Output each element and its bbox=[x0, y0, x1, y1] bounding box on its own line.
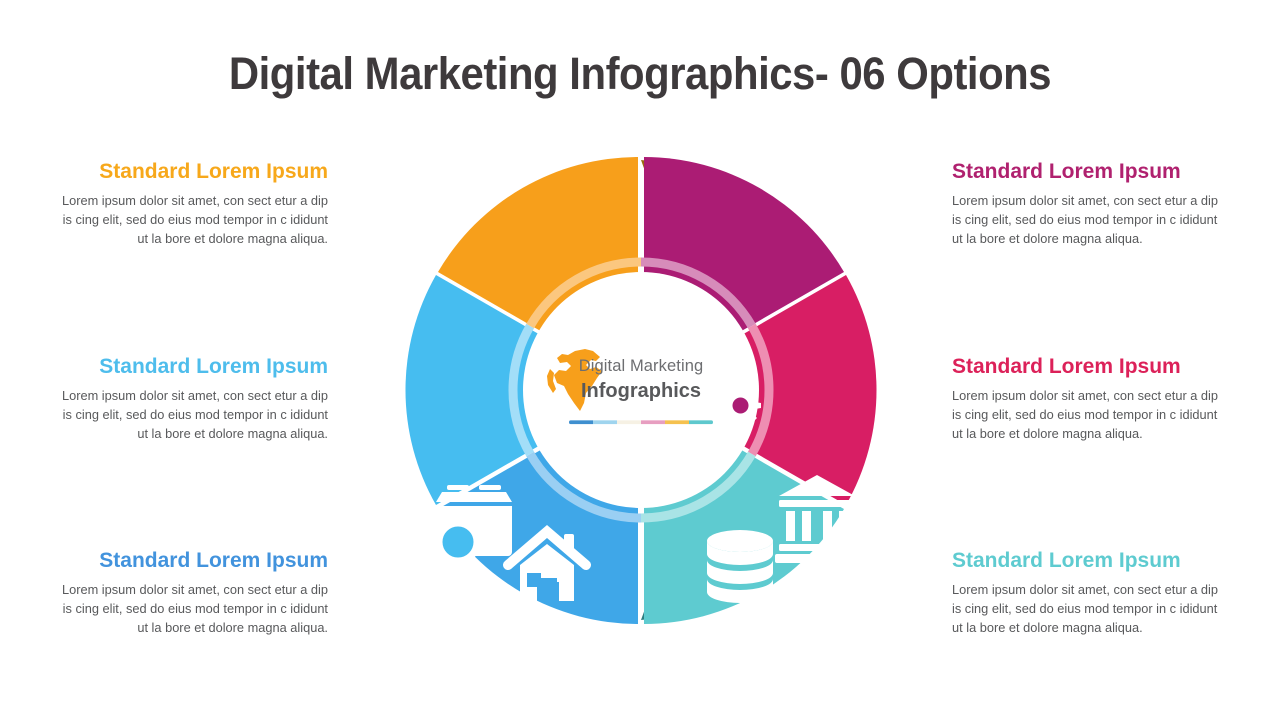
option-heading-engineer: Standard Lorem Ipsum bbox=[952, 160, 1224, 183]
option-body-engineer: Lorem ipsum dolor sit amet, con sect etu… bbox=[952, 192, 1224, 249]
option-text-globe: Standard Lorem Ipsum Lorem ipsum dolor s… bbox=[56, 160, 328, 249]
wheel-svg bbox=[391, 140, 891, 640]
infographic-wheel: Digital Marketing Infographics bbox=[391, 140, 891, 640]
option-text-engineer: Standard Lorem Ipsum Lorem ipsum dolor s… bbox=[952, 160, 1224, 249]
option-text-search-box: Standard Lorem Ipsum Lorem ipsum dolor s… bbox=[56, 355, 328, 444]
option-body-search-box: Lorem ipsum dolor sit amet, con sect etu… bbox=[56, 387, 328, 444]
option-text-house: Standard Lorem Ipsum Lorem ipsum dolor s… bbox=[56, 549, 328, 638]
option-body-globe: Lorem ipsum dolor sit amet, con sect etu… bbox=[56, 192, 328, 249]
option-body-bank: Lorem ipsum dolor sit amet, con sect etu… bbox=[952, 387, 1224, 444]
option-heading-house: Standard Lorem Ipsum bbox=[56, 549, 328, 572]
option-heading-bank: Standard Lorem Ipsum bbox=[952, 355, 1224, 378]
option-heading-search-box: Standard Lorem Ipsum bbox=[56, 355, 328, 378]
option-body-house: Lorem ipsum dolor sit amet, con sect etu… bbox=[56, 581, 328, 638]
page-title: Digital Marketing Infographics- 06 Optio… bbox=[45, 48, 1235, 100]
option-text-bank: Standard Lorem Ipsum Lorem ipsum dolor s… bbox=[952, 355, 1224, 444]
option-body-database: Lorem ipsum dolor sit amet, con sect etu… bbox=[952, 581, 1224, 638]
option-text-database: Standard Lorem Ipsum Lorem ipsum dolor s… bbox=[952, 549, 1224, 638]
option-heading-database: Standard Lorem Ipsum bbox=[952, 549, 1224, 572]
globe-icon bbox=[544, 345, 616, 417]
option-heading-globe: Standard Lorem Ipsum bbox=[56, 160, 328, 183]
